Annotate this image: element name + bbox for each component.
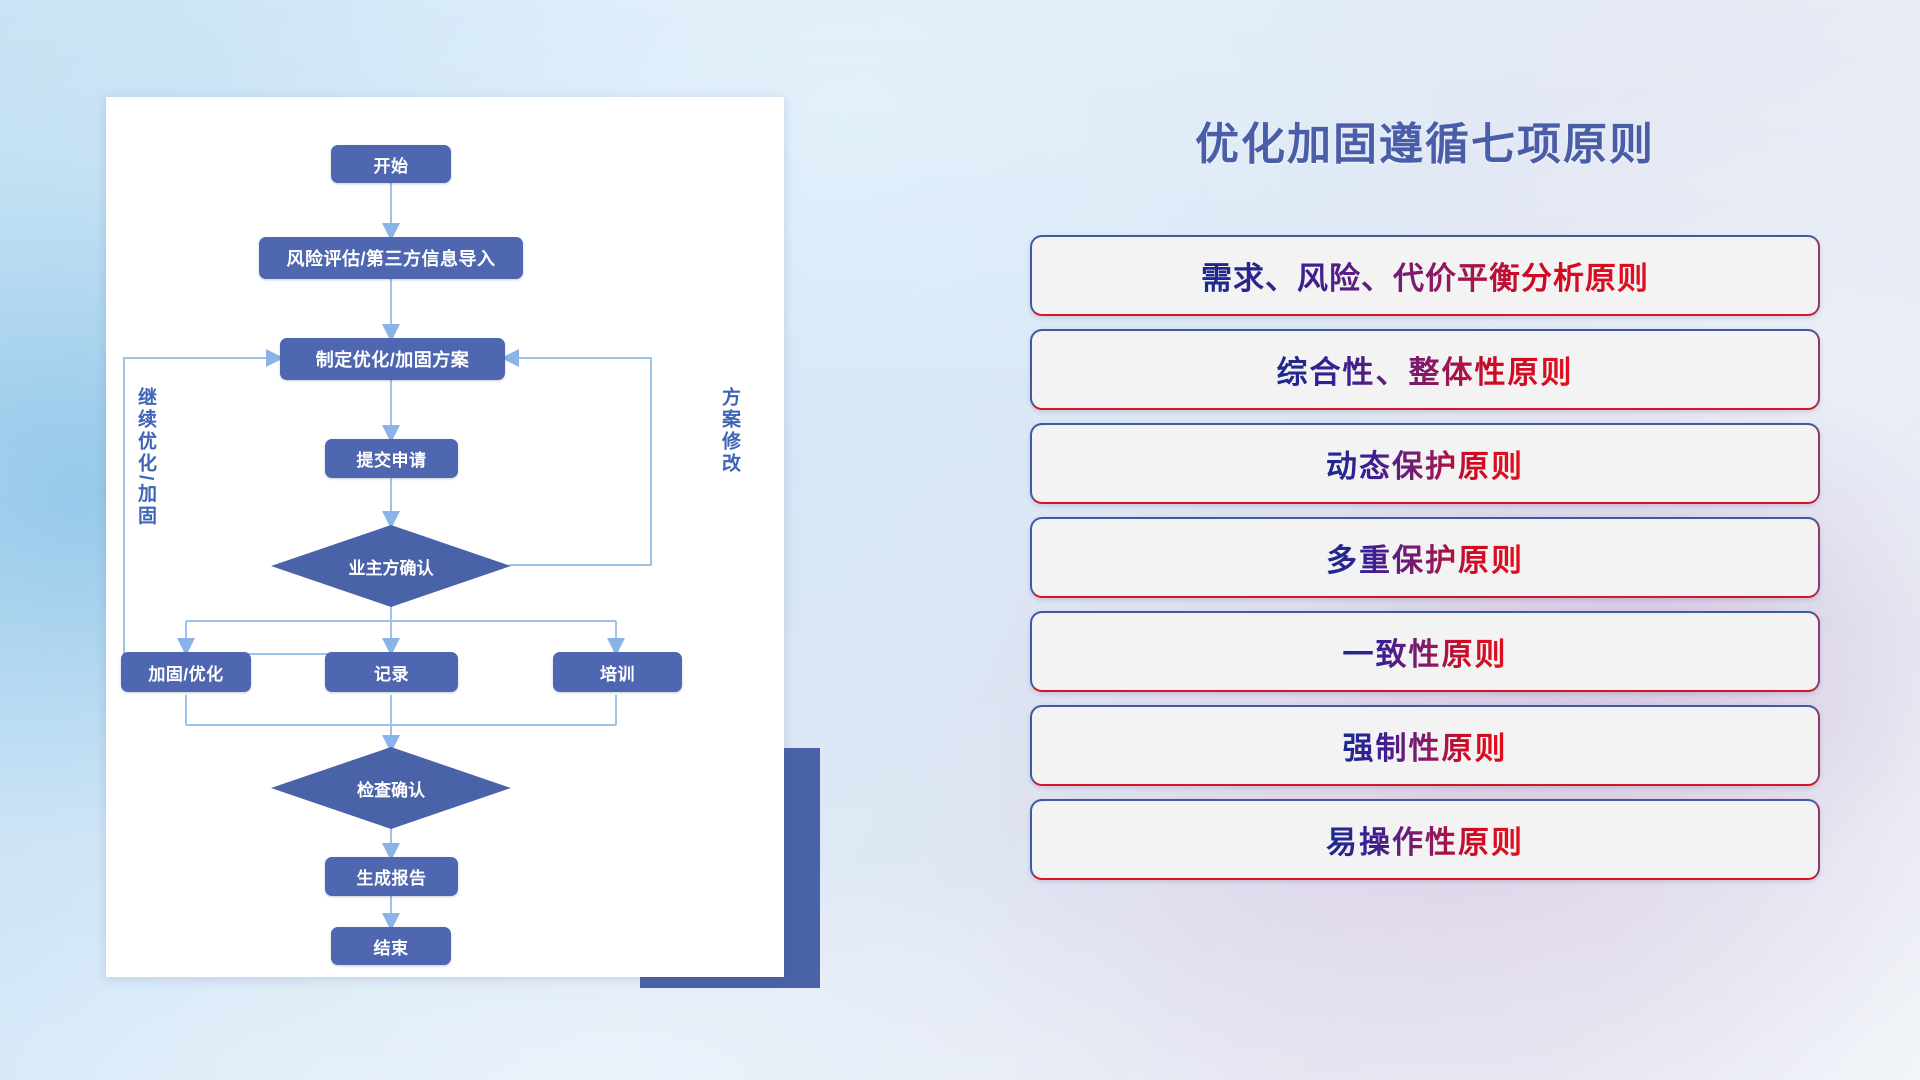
principles-panel: 优化加固遵循七项原则 需求、风险、代价平衡分析原则 综合性、整体性原则 动态保护… (1010, 80, 1840, 1010)
principle-label: 多重保护原则 (1326, 535, 1524, 580)
principle-item-7[interactable]: 易操作性原则 (1030, 799, 1820, 880)
flow-node-reinforce[interactable]: 加固/优化 (121, 652, 251, 692)
principle-label: 一致性原则 (1343, 629, 1508, 674)
flow-node-label: 生成报告 (357, 864, 427, 889)
principle-item-1[interactable]: 需求、风险、代价平衡分析原则 (1030, 235, 1820, 316)
flow-node-label: 风险评估/第三方信息导入 (287, 245, 496, 271)
flow-node-end[interactable]: 结束 (331, 927, 451, 965)
edge-label-plan-revision: 方案修改 (720, 387, 739, 475)
principle-item-4[interactable]: 多重保护原则 (1030, 517, 1820, 598)
flow-node-record[interactable]: 记录 (325, 652, 458, 692)
flow-node-label: 培训 (600, 660, 635, 685)
principle-item-5[interactable]: 一致性原则 (1030, 611, 1820, 692)
flowchart-connectors (106, 97, 784, 977)
flow-node-label: 提交申请 (357, 446, 427, 471)
principle-label: 需求、风险、代价平衡分析原则 (1201, 253, 1649, 298)
edge-label-continue-optimize: 继续优化/加固 (136, 387, 155, 527)
page-title: 优化加固遵循七项原则 (1010, 108, 1840, 172)
principle-label: 动态保护原则 (1326, 441, 1524, 486)
flow-node-label: 业主方确认 (349, 554, 434, 579)
principle-item-6[interactable]: 强制性原则 (1030, 705, 1820, 786)
flow-node-risk-assessment[interactable]: 风险评估/第三方信息导入 (259, 237, 523, 279)
flow-node-label: 加固/优化 (148, 660, 223, 685)
principle-label: 易操作性原则 (1326, 817, 1524, 862)
flowchart-card: 开始 风险评估/第三方信息导入 制定优化/加固方案 提交申请 业主方确认 加固/… (106, 97, 784, 977)
principle-label: 强制性原则 (1343, 723, 1508, 768)
flow-node-plan[interactable]: 制定优化/加固方案 (280, 338, 505, 380)
flow-node-training[interactable]: 培训 (553, 652, 682, 692)
flow-node-submit-application[interactable]: 提交申请 (325, 439, 458, 478)
flow-node-label: 制定优化/加固方案 (316, 346, 470, 372)
principle-item-2[interactable]: 综合性、整体性原则 (1030, 329, 1820, 410)
flow-node-label: 检查确认 (357, 776, 425, 801)
flow-node-label: 开始 (374, 152, 409, 177)
principle-item-3[interactable]: 动态保护原则 (1030, 423, 1820, 504)
flow-node-label: 记录 (374, 660, 409, 685)
flow-node-start[interactable]: 开始 (331, 145, 451, 183)
principle-label: 综合性、整体性原则 (1277, 347, 1574, 392)
principles-list: 需求、风险、代价平衡分析原则 综合性、整体性原则 动态保护原则 多重保护原则 一… (1030, 235, 1820, 893)
flow-node-label: 结束 (374, 934, 409, 959)
flow-node-generate-report[interactable]: 生成报告 (325, 857, 458, 896)
